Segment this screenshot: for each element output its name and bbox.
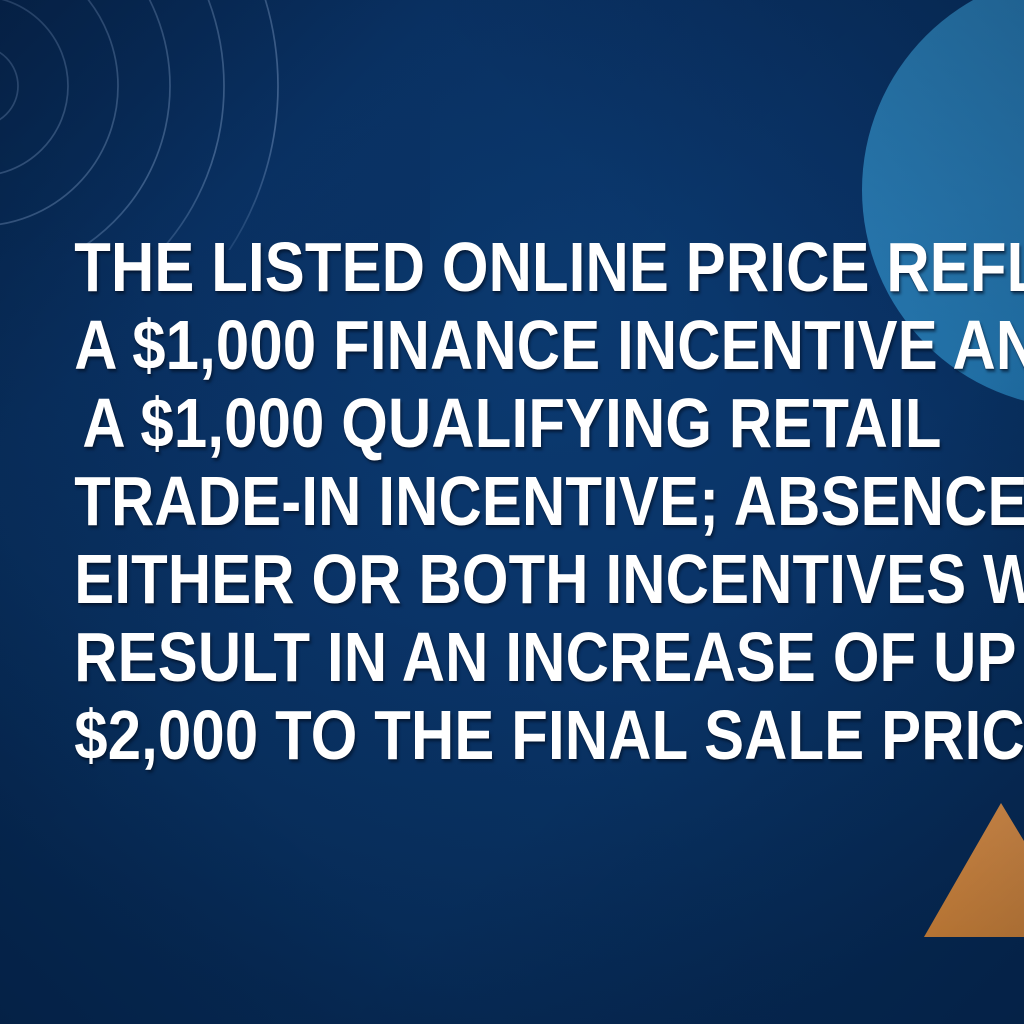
headline-line-7: $2,000 TO THE FINAL SALE PRICE. (74, 696, 950, 774)
headline-line-5: EITHER OR BOTH INCENTIVES WILL (74, 540, 950, 618)
headline-line-3: A $1,000 QUALIFYING RETAIL (74, 384, 950, 462)
headline-line-4: TRADE-IN INCENTIVE; ABSENCE OF (74, 462, 950, 540)
headline-line-2: A $1,000 FINANCE INCENTIVE AND (74, 306, 950, 384)
headline-text-block: THE LISTED ONLINE PRICE REFLECTS A $1,00… (0, 228, 1024, 774)
headline-line-1: THE LISTED ONLINE PRICE REFLECTS (74, 228, 950, 306)
promotional-disclaimer-graphic: THE LISTED ONLINE PRICE REFLECTS A $1,00… (0, 0, 1024, 1024)
headline-line-6: RESULT IN AN INCREASE OF UP TO (74, 618, 950, 696)
